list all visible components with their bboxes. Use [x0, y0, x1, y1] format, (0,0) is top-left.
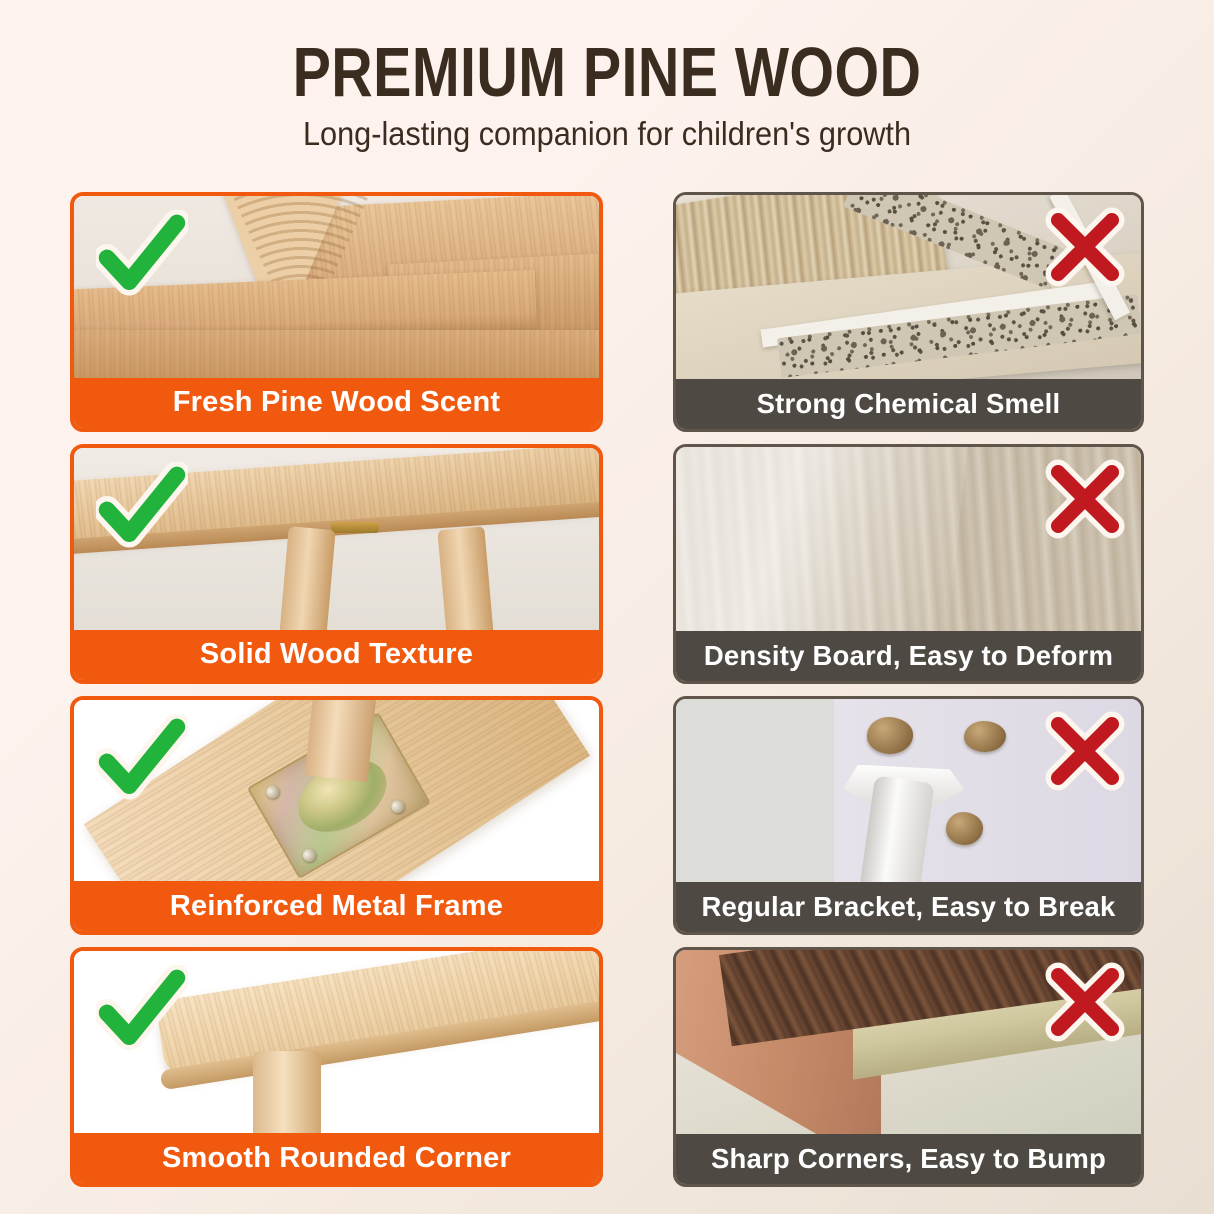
bad-label-4: Sharp Corners, Easy to Bump — [676, 1134, 1141, 1184]
page-title: PREMIUM PINE WOOD — [109, 34, 1104, 110]
cross-icon — [1043, 709, 1127, 793]
page-subtitle: Long-lasting companion for children's gr… — [42, 114, 1171, 154]
good-card-4[interactable]: Smooth Rounded Corner — [70, 947, 603, 1187]
check-icon — [96, 965, 188, 1057]
cross-icon — [1043, 205, 1127, 289]
good-photo-3 — [74, 700, 599, 882]
good-label-1: Fresh Pine Wood Scent — [74, 378, 599, 428]
bad-photo-1 — [676, 195, 1141, 379]
comparison-grid: Fresh Pine Wood Scent Strong Chemical Sm… — [70, 192, 1144, 1187]
bad-photo-3 — [676, 699, 1141, 883]
bad-label-3: Regular Bracket, Easy to Break — [676, 882, 1141, 932]
good-label-2: Solid Wood Texture — [74, 630, 599, 680]
good-card-3[interactable]: Reinforced Metal Frame — [70, 696, 603, 936]
bad-photo-2 — [676, 447, 1141, 631]
bad-card-2[interactable]: Density Board, Easy to Deform — [673, 444, 1144, 684]
check-icon — [96, 462, 188, 554]
bad-card-1[interactable]: Strong Chemical Smell — [673, 192, 1144, 432]
header: PREMIUM PINE WOOD Long-lasting companion… — [0, 0, 1214, 154]
good-photo-2 — [74, 448, 599, 630]
bad-label-2: Density Board, Easy to Deform — [676, 631, 1141, 681]
bad-label-1: Strong Chemical Smell — [676, 379, 1141, 429]
check-icon — [96, 714, 188, 806]
good-card-2[interactable]: Solid Wood Texture — [70, 444, 603, 684]
good-photo-1 — [74, 196, 599, 378]
bad-card-4[interactable]: Sharp Corners, Easy to Bump — [673, 947, 1144, 1187]
check-icon — [96, 210, 188, 302]
good-photo-4 — [74, 951, 599, 1133]
bad-photo-4 — [676, 950, 1141, 1134]
good-label-3: Reinforced Metal Frame — [74, 881, 599, 931]
bad-card-3[interactable]: Regular Bracket, Easy to Break — [673, 696, 1144, 936]
good-card-1[interactable]: Fresh Pine Wood Scent — [70, 192, 603, 432]
cross-icon — [1043, 960, 1127, 1044]
cross-icon — [1043, 457, 1127, 541]
good-label-4: Smooth Rounded Corner — [74, 1133, 599, 1183]
